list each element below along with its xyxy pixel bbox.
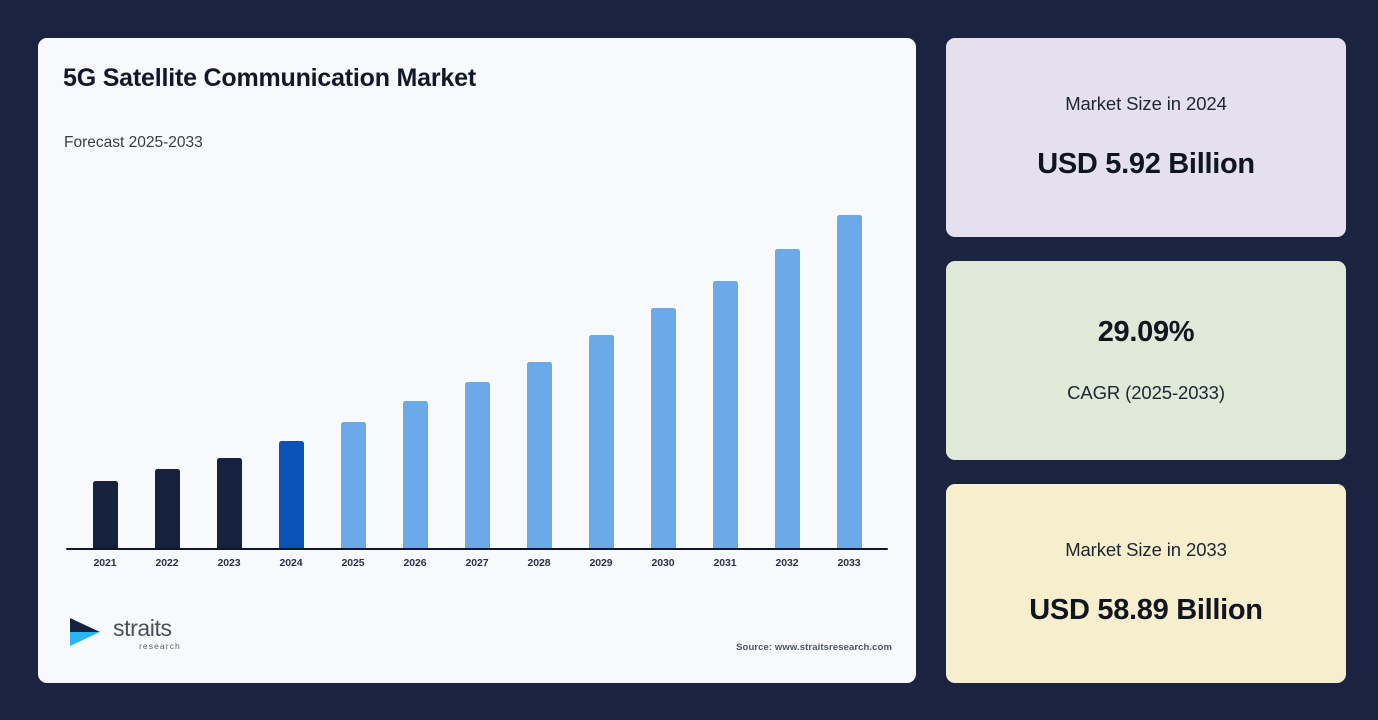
source-attribution: Source: www.straitsresearch.com bbox=[736, 642, 892, 653]
bar-slot-2027 bbox=[446, 198, 508, 548]
page-title: 5G Satellite Communication Market bbox=[62, 64, 892, 93]
x-axis-label-2026: 2026 bbox=[384, 557, 446, 569]
bar-slot-2026 bbox=[384, 198, 446, 548]
x-axis-label-2029: 2029 bbox=[570, 557, 632, 569]
bar-2033[interactable] bbox=[837, 215, 862, 548]
bar-slot-2029 bbox=[570, 198, 632, 548]
bar-2024[interactable] bbox=[279, 441, 304, 548]
bar-slot-2022 bbox=[136, 198, 198, 548]
stat-card-1: Market Size in 2024USD 5.92 Billion bbox=[946, 38, 1346, 237]
logo-wordmark: straits bbox=[113, 617, 172, 640]
bar-2026[interactable] bbox=[403, 401, 428, 548]
x-axis-label-2022: 2022 bbox=[136, 557, 198, 569]
x-axis-label-2028: 2028 bbox=[508, 557, 570, 569]
bar-2028[interactable] bbox=[527, 362, 552, 548]
bar-slot-2025 bbox=[322, 198, 384, 548]
logo-text: straits research bbox=[113, 617, 181, 651]
x-axis-label-2024: 2024 bbox=[260, 557, 322, 569]
logo-tagline: research bbox=[113, 642, 181, 651]
stat-card-3: Market Size in 2033USD 58.89 Billion bbox=[946, 484, 1346, 683]
x-axis-label-2031: 2031 bbox=[694, 557, 756, 569]
x-axis-label-2027: 2027 bbox=[446, 557, 508, 569]
bar-2023[interactable] bbox=[217, 458, 242, 548]
bar-2025[interactable] bbox=[341, 422, 366, 548]
bar-slot-2024 bbox=[260, 198, 322, 548]
x-axis-line bbox=[66, 548, 888, 551]
bar-slot-2030 bbox=[632, 198, 694, 548]
x-axis-tick-labels: 2021202220232024202520262027202820292030… bbox=[66, 557, 888, 569]
stat-card-value: 29.09% bbox=[1098, 316, 1195, 349]
bar-2021[interactable] bbox=[93, 481, 118, 548]
stat-card-label: Market Size in 2024 bbox=[1065, 93, 1227, 115]
bar-2031[interactable] bbox=[713, 281, 738, 548]
stat-card-label: Market Size in 2033 bbox=[1065, 539, 1227, 561]
arrow-chevron-icon bbox=[66, 612, 106, 657]
bar-slot-2028 bbox=[508, 198, 570, 548]
stat-card-value: USD 5.92 Billion bbox=[1037, 148, 1255, 181]
x-axis-label-2025: 2025 bbox=[322, 557, 384, 569]
x-axis-label-2023: 2023 bbox=[198, 557, 260, 569]
bar-2022[interactable] bbox=[155, 469, 180, 548]
straits-research-logo: straits research bbox=[66, 612, 181, 657]
bar-2027[interactable] bbox=[465, 382, 490, 548]
bar-2030[interactable] bbox=[651, 308, 676, 548]
x-axis-label-2033: 2033 bbox=[818, 557, 880, 569]
chart-subtitle: Forecast 2025-2033 bbox=[62, 134, 892, 152]
bar-2032[interactable] bbox=[775, 249, 800, 548]
stat-cards-column: Market Size in 2024USD 5.92 Billion29.09… bbox=[946, 38, 1346, 683]
x-axis-label-2030: 2030 bbox=[632, 557, 694, 569]
x-axis-label-2021: 2021 bbox=[74, 557, 136, 569]
x-axis-label-2032: 2032 bbox=[756, 557, 818, 569]
bar-slot-2033 bbox=[818, 198, 880, 548]
bar-slot-2023 bbox=[198, 198, 260, 548]
bar-2029[interactable] bbox=[589, 335, 614, 548]
bar-slot-2032 bbox=[756, 198, 818, 548]
bar-series-container bbox=[66, 198, 888, 548]
chart-panel: 5G Satellite Communication Market Foreca… bbox=[38, 38, 916, 683]
stat-card-value: USD 58.89 Billion bbox=[1029, 594, 1262, 627]
chart-footer: straits research Source: www.straitsrese… bbox=[66, 612, 892, 657]
stat-card-label: CAGR (2025-2033) bbox=[1067, 382, 1225, 404]
bar-chart-plot-area bbox=[66, 198, 888, 548]
bar-slot-2021 bbox=[74, 198, 136, 548]
bar-slot-2031 bbox=[694, 198, 756, 548]
stat-card-2: 29.09%CAGR (2025-2033) bbox=[946, 261, 1346, 460]
